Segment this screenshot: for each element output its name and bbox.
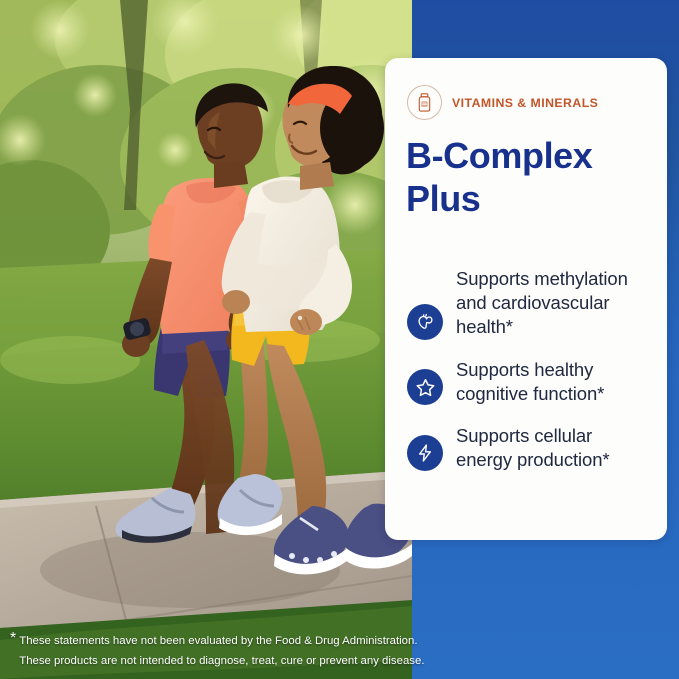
lightning-bolt-icon <box>407 435 443 471</box>
star-icon <box>407 369 443 405</box>
supplement-bottle-icon <box>407 85 442 120</box>
category-badge-label: VITAMINS & MINERALS <box>452 96 598 110</box>
benefit-item-cognitive: Supports healthy cognitive function* <box>407 357 652 406</box>
benefit-text: Supports healthy cognitive function* <box>456 357 652 406</box>
lifestyle-photo <box>0 0 412 679</box>
benefit-text: Supports cellular energy production* <box>456 423 652 472</box>
page-title: B-Complex Plus <box>406 134 642 220</box>
disclaimer-line-2: These products are not intended to diagn… <box>19 651 424 671</box>
benefit-item-cardiovascular: Supports methylation and cardiovascular … <box>407 266 652 340</box>
benefit-text: Supports methylation and cardiovascular … <box>456 266 652 339</box>
category-badge: VITAMINS & MINERALS <box>407 85 598 120</box>
heart-icon <box>407 304 443 340</box>
benefits-list: Supports methylation and cardiovascular … <box>407 266 652 472</box>
disclaimer-asterisk: * <box>10 631 16 647</box>
fda-disclaimer: * These statements have not been evaluat… <box>10 631 410 671</box>
product-info-card: VITAMINS & MINERALS B-Complex Plus Suppo… <box>385 58 667 540</box>
benefit-item-energy: Supports cellular energy production* <box>407 423 652 472</box>
disclaimer-line-1: These statements have not been evaluated… <box>19 631 424 651</box>
product-hero-banner: VITAMINS & MINERALS B-Complex Plus Suppo… <box>0 0 679 679</box>
